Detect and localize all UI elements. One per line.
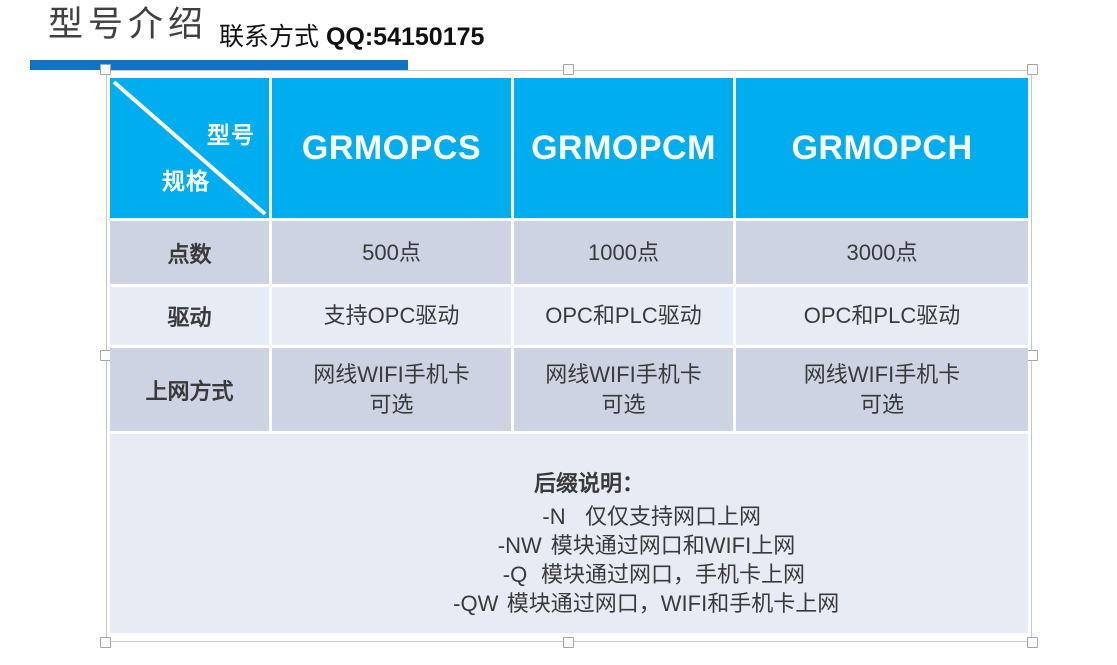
suffix-code: -N bbox=[523, 502, 585, 531]
model-name-2: GRMOPCM bbox=[531, 129, 716, 167]
cell-driver-grmopcs: 支持OPC驱动 bbox=[272, 287, 514, 348]
corner-spec-label: 规格 bbox=[162, 162, 210, 196]
cell-text: 支持OPC驱动 bbox=[324, 303, 460, 328]
table-corner-cell: 型号 规格 bbox=[110, 78, 272, 221]
cell-driver-grmopch: OPC和PLC驱动 bbox=[736, 287, 1028, 348]
model-name-1: GRMOPCS bbox=[302, 129, 481, 167]
row-label-text: 点数 bbox=[167, 242, 211, 267]
table-header-col-1: GRMOPCS bbox=[272, 78, 514, 221]
row-label-text: 上网方式 bbox=[145, 379, 233, 404]
table-row: 上网方式 网线WIFI手机卡可选 网线WIFI手机卡可选 网线WIFI手机卡可选 bbox=[110, 348, 1028, 434]
resize-handle-top-left[interactable] bbox=[100, 64, 111, 75]
contact-info: 联系方式 QQ:54150175 bbox=[219, 21, 484, 53]
suffix-desc: 模块通过网口，手机卡上网 bbox=[541, 562, 805, 587]
list-item: -NW模块通过网口和WIFI上网 bbox=[256, 531, 1028, 560]
cell-points-grmopch: 3000点 bbox=[736, 221, 1028, 287]
cell-text: 网线WIFI手机卡可选 bbox=[313, 362, 469, 417]
suffix-code: -Q bbox=[479, 560, 541, 589]
cell-text: 500点 bbox=[362, 240, 421, 265]
cell-network-grmopch: 网线WIFI手机卡可选 bbox=[736, 348, 1028, 434]
resize-handle-bottom-center[interactable] bbox=[563, 637, 574, 648]
suffix-note-cell: 后缀说明： -N仅仅支持网口上网 -NW模块通过网口和WIFI上网 -Q模块通过… bbox=[110, 434, 1028, 633]
corner-model-label: 型号 bbox=[207, 116, 255, 150]
suffix-desc: 模块通过网口和WIFI上网 bbox=[551, 533, 795, 558]
suffix-code: -QW bbox=[445, 589, 507, 618]
contact-label: 联系方式 bbox=[219, 23, 319, 51]
list-item: -QW模块通过网口，WIFI和手机卡上网 bbox=[256, 589, 1028, 618]
model-name-3: GRMOPCH bbox=[791, 129, 972, 167]
cell-text: 1000点 bbox=[588, 240, 659, 265]
suffix-desc: 模块通过网口，WIFI和手机卡上网 bbox=[507, 591, 839, 616]
row-label-driver: 驱动 bbox=[110, 287, 272, 348]
row-label-text: 驱动 bbox=[167, 305, 211, 330]
cell-network-grmopcs: 网线WIFI手机卡可选 bbox=[272, 348, 514, 434]
cell-text: OPC和PLC驱动 bbox=[804, 303, 960, 328]
cell-points-grmopcm: 1000点 bbox=[514, 221, 736, 287]
page-title: 型号介绍 bbox=[48, 2, 208, 48]
model-spec-table[interactable]: 型号 规格 GRMOPCS GRMOPCM GRMOPCH 点数 500点 10… bbox=[110, 78, 1028, 633]
cell-points-grmopcs: 500点 bbox=[272, 221, 514, 287]
table-note-row: 后缀说明： -N仅仅支持网口上网 -NW模块通过网口和WIFI上网 -Q模块通过… bbox=[110, 434, 1028, 633]
resize-handle-top-center[interactable] bbox=[563, 64, 574, 75]
row-label-points: 点数 bbox=[110, 221, 272, 287]
table-row: 点数 500点 1000点 3000点 bbox=[110, 221, 1028, 287]
suffix-note-list: -N仅仅支持网口上网 -NW模块通过网口和WIFI上网 -Q模块通过网口，手机卡… bbox=[150, 502, 1028, 618]
resize-handle-bottom-right[interactable] bbox=[1027, 637, 1038, 648]
slide-title-block: 型号介绍 联系方式 QQ:54150175 bbox=[0, 0, 1117, 72]
table-row: 驱动 支持OPC驱动 OPC和PLC驱动 OPC和PLC驱动 bbox=[110, 287, 1028, 348]
resize-handle-top-right[interactable] bbox=[1027, 64, 1038, 75]
cell-text: 网线WIFI手机卡可选 bbox=[545, 362, 701, 417]
suffix-desc: 仅仅支持网口上网 bbox=[585, 504, 761, 529]
list-item: -N仅仅支持网口上网 bbox=[256, 502, 1028, 531]
suffix-note-heading: 后缀说明： bbox=[150, 466, 1028, 498]
cell-network-grmopcm: 网线WIFI手机卡可选 bbox=[514, 348, 736, 434]
resize-handle-middle-right[interactable] bbox=[1027, 350, 1038, 361]
table-header-col-3: GRMOPCH bbox=[736, 78, 1028, 221]
list-item: -Q模块通过网口，手机卡上网 bbox=[256, 560, 1028, 589]
title-accent-bar bbox=[30, 60, 408, 70]
contact-qq-number: QQ:54150175 bbox=[326, 23, 484, 51]
cell-text: 网线WIFI手机卡可选 bbox=[804, 362, 960, 417]
cell-driver-grmopcm: OPC和PLC驱动 bbox=[514, 287, 736, 348]
table-header-col-2: GRMOPCM bbox=[514, 78, 736, 221]
resize-handle-bottom-left[interactable] bbox=[100, 637, 111, 648]
cell-text: OPC和PLC驱动 bbox=[545, 303, 701, 328]
table-header-row: 型号 规格 GRMOPCS GRMOPCM GRMOPCH bbox=[110, 78, 1028, 221]
row-label-network: 上网方式 bbox=[110, 348, 272, 434]
cell-text: 3000点 bbox=[847, 240, 918, 265]
suffix-code: -NW bbox=[489, 531, 551, 560]
